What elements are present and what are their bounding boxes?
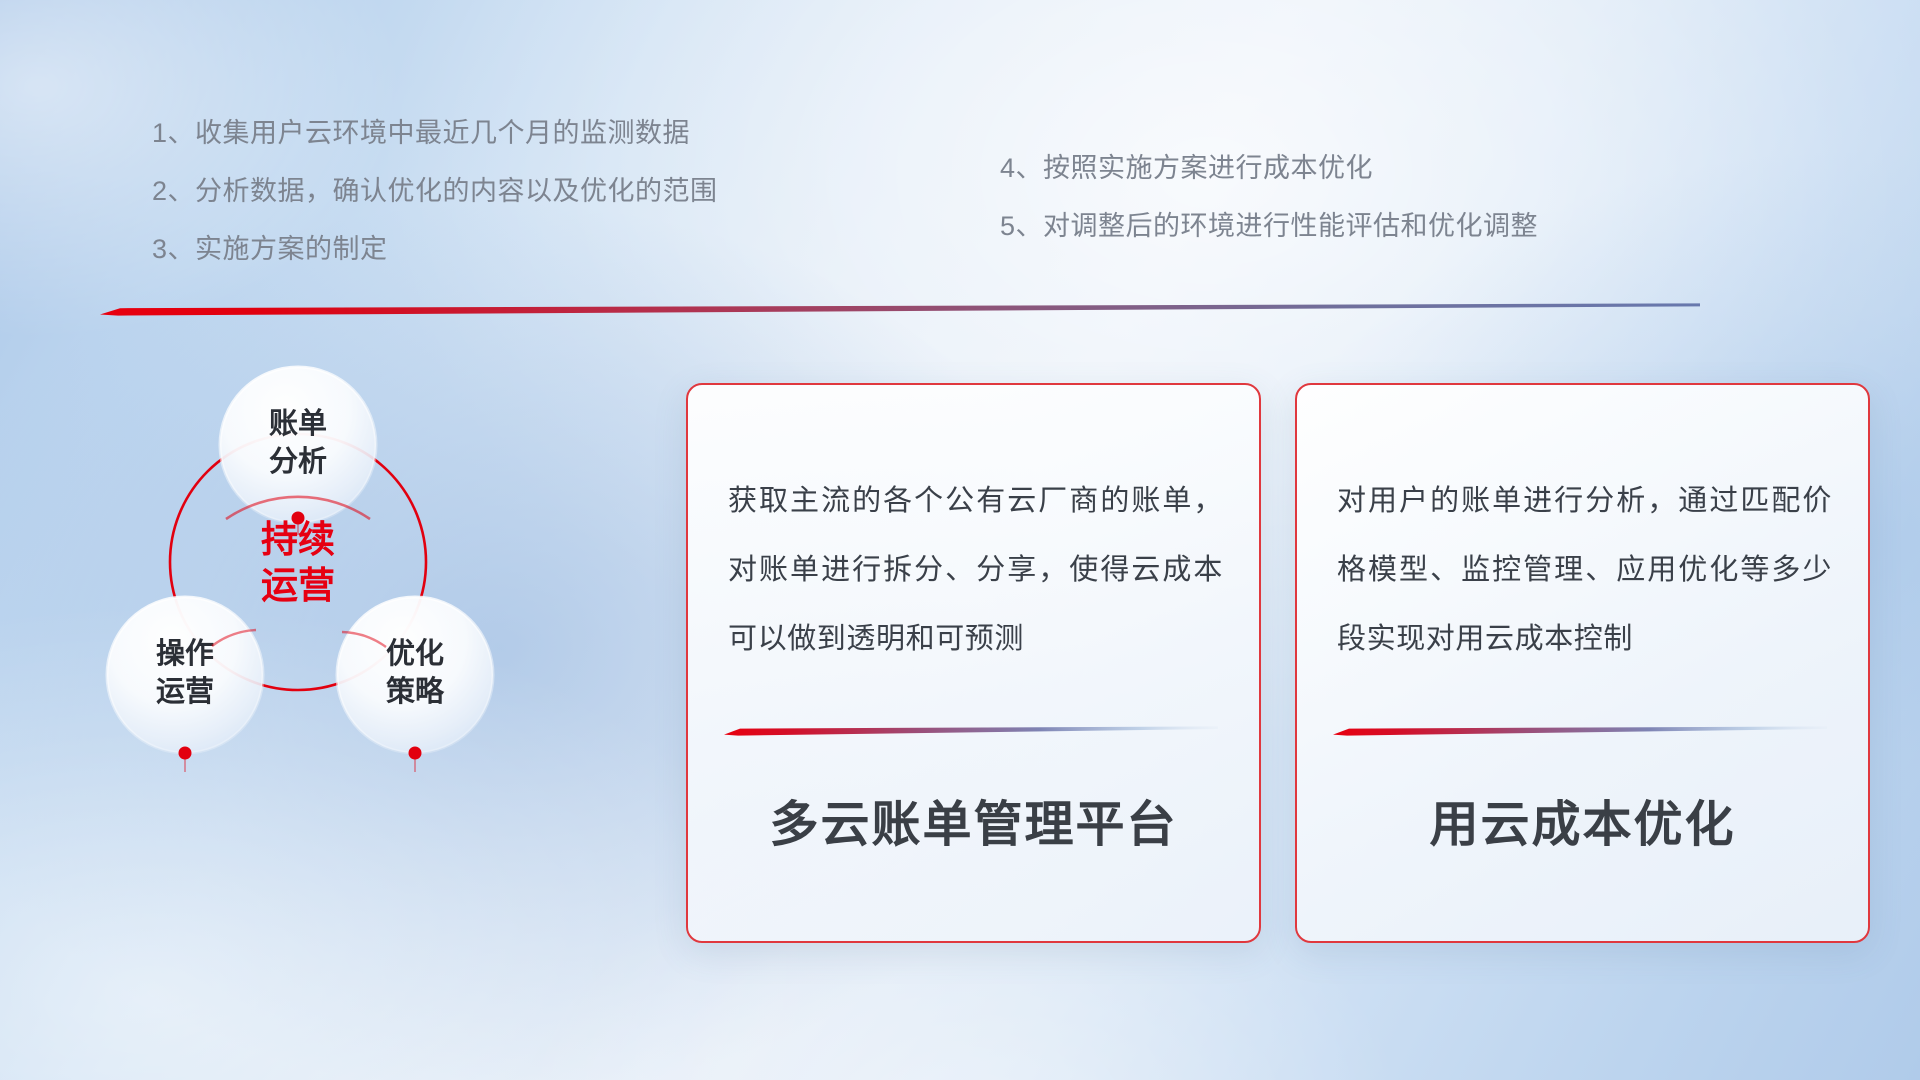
venn-node-label-line1: 账单 (269, 407, 327, 440)
card-divider (1333, 725, 1827, 736)
venn-node-optimization-strategy[interactable]: 优化 策略 (337, 597, 493, 753)
venn-node-label-line2: 策略 (386, 674, 445, 708)
venn-diagram: 账单 分析 操作 运营 优化 策略 (80, 330, 620, 800)
venn-center-label-line2: 运营 (261, 565, 335, 606)
venn-center-label-line1: 持续 (261, 519, 335, 560)
venn-connector-bottom-right (409, 747, 422, 773)
process-steps-left: 1、收集用户云环境中最近几个月的监测数据 2、分析数据，确认优化的内容以及优化的… (152, 120, 718, 294)
card-body-text: 获取主流的各个公有云厂商的账单，对账单进行拆分、分享，使得云成本可以做到透明和可… (728, 467, 1223, 674)
venn-node-operations[interactable]: 操作 运营 (107, 597, 263, 753)
venn-node-label-line1: 优化 (386, 637, 444, 670)
header-divider-rule (100, 303, 1700, 316)
card-cloud-cost-optimization[interactable]: 对用户的账单进行分析，通过匹配价格模型、监控管理、应用优化等多少段实现对用云成本… (1295, 383, 1870, 943)
venn-connector-bottom-left (179, 747, 192, 773)
process-step-3: 3、实施方案的制定 (152, 236, 718, 263)
card-body-text: 对用户的账单进行分析，通过匹配价格模型、监控管理、应用优化等多少段实现对用云成本… (1337, 467, 1832, 674)
process-step-2: 2、分析数据，确认优化的内容以及优化的范围 (152, 178, 718, 205)
venn-bubble-circle (220, 367, 376, 523)
process-step-5: 5、对调整后的环境进行性能评估和优化调整 (1000, 213, 1538, 240)
venn-node-label-line2: 分析 (269, 445, 327, 478)
venn-node-label-line2: 运营 (156, 675, 214, 708)
card-title: 多云账单管理平台 (688, 785, 1259, 856)
process-steps-right: 4、按照实施方案进行成本优化 5、对调整后的环境进行性能评估和优化调整 (1000, 155, 1538, 271)
card-divider (724, 725, 1218, 736)
venn-bubble-circle (337, 597, 493, 753)
venn-center-label: 持续 运营 (261, 519, 335, 606)
venn-node-label-line1: 操作 (156, 637, 214, 670)
card-title: 用云成本优化 (1297, 785, 1868, 856)
process-step-4: 4、按照实施方案进行成本优化 (1000, 155, 1538, 182)
process-step-1: 1、收集用户云环境中最近几个月的监测数据 (152, 120, 718, 147)
card-multi-cloud-billing-platform[interactable]: 获取主流的各个公有云厂商的账单，对账单进行拆分、分享，使得云成本可以做到透明和可… (686, 383, 1261, 943)
venn-node-billing-analysis[interactable]: 账单 分析 (220, 367, 376, 523)
venn-bubble-circle (107, 597, 263, 753)
